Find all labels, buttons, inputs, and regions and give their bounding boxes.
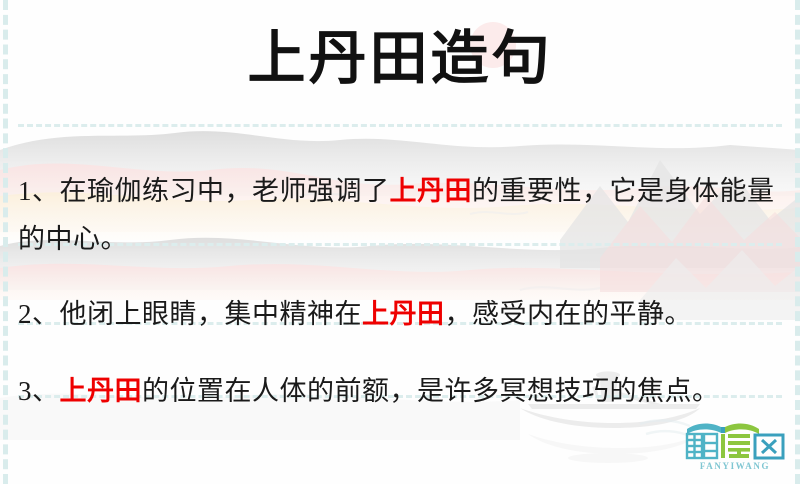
logo-char-fan xyxy=(687,434,717,458)
page-title: 上丹田造句 xyxy=(0,20,800,98)
left-dashed-rail xyxy=(3,0,8,484)
logo-char-yi xyxy=(721,434,750,458)
book-left-page xyxy=(687,423,721,434)
sentence-index: 2、 xyxy=(18,299,60,329)
keyword-highlight: 上丹田 xyxy=(60,376,143,406)
logo-char-wang xyxy=(755,435,783,458)
sentence-text-before: 在瑜伽练习中，老师强调了 xyxy=(60,176,390,206)
sentence-index: 3、 xyxy=(18,376,60,406)
site-logo[interactable]: FANYIWANG xyxy=(681,419,789,475)
keyword-highlight: 上丹田 xyxy=(390,176,473,206)
sentence-item: 3、上丹田的位置在人体的前额，是许多冥想技巧的焦点。 xyxy=(18,367,780,415)
page-root: 上丹田造句 1、在瑜伽练习中，老师强调了上丹田的重要性，它是身体能量的中心。 2… xyxy=(0,0,800,484)
sentence-text-after: ，感受内在的平静。 xyxy=(445,299,693,329)
sentence-text-after: 的位置在人体的前额，是许多冥想技巧的焦点。 xyxy=(142,376,720,406)
sentence-item: 1、在瑜伽练习中，老师强调了上丹田的重要性，它是身体能量的中心。 xyxy=(18,167,780,263)
sentence-item: 2、他闭上眼睛，集中精神在上丹田，感受内在的平静。 xyxy=(18,290,780,338)
keyword-highlight: 上丹田 xyxy=(362,299,445,329)
book-right-page xyxy=(725,423,759,434)
sentence-index: 1、 xyxy=(18,176,60,206)
separator-1 xyxy=(18,124,782,127)
logo-romanization: FANYIWANG xyxy=(681,461,789,471)
sentence-text-before: 他闭上眼睛，集中精神在 xyxy=(60,299,363,329)
right-dashed-rail xyxy=(795,0,800,484)
